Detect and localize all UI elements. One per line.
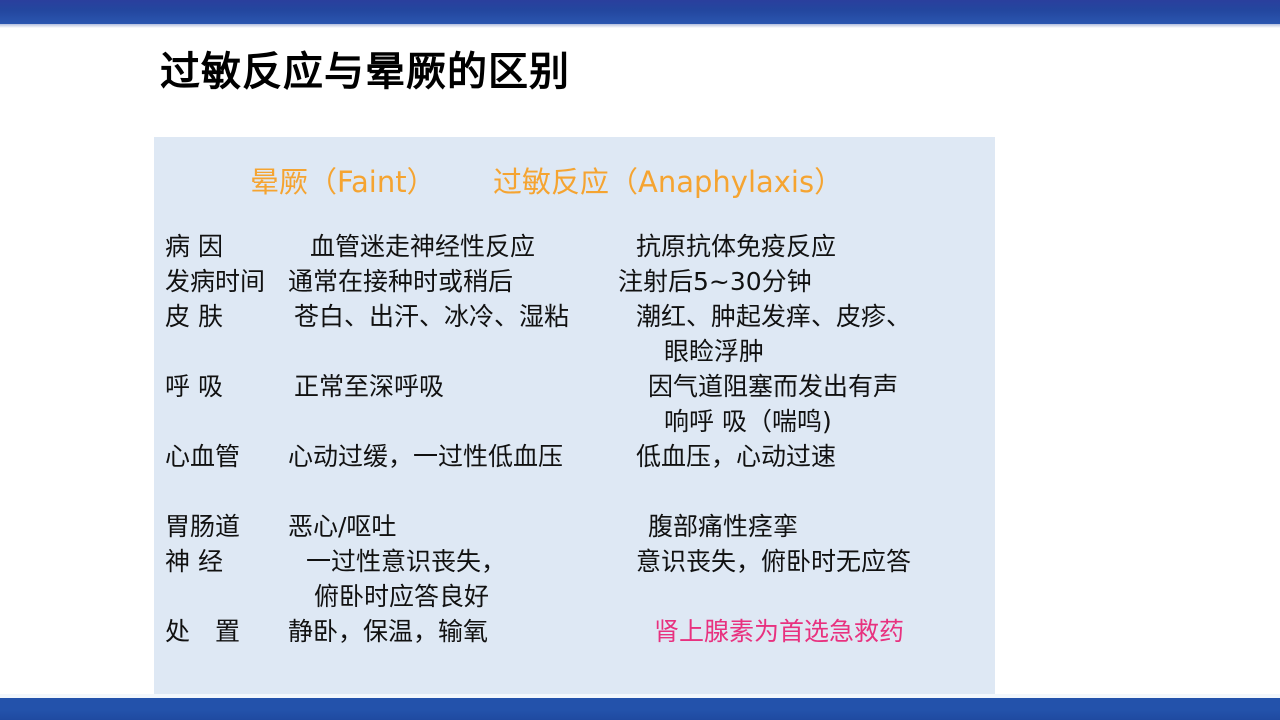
table-row-continuation: 响呼 吸（喘鸣) (154, 404, 995, 439)
row-label: 胃肠道 (165, 509, 240, 544)
row-faint-value: 血管迷走神经性反应 (310, 229, 535, 264)
row-label: 处 置 (165, 614, 240, 649)
row-faint-value: 静卧，保温，输氧 (288, 614, 488, 649)
comparison-panel: 晕厥（Faint） 过敏反应（Anaphylaxis） 病 因 血管迷走神经性反… (154, 137, 995, 695)
slide-canvas: 过敏反应与晕厥的区别 晕厥（Faint） 过敏反应（Anaphylaxis） 病… (0, 0, 1280, 720)
table-row: 呼 吸 正常至深呼吸 因气道阻塞而发出有声 (154, 369, 995, 404)
row-anaphylaxis-value-highlight: 肾上腺素为首选急救药 (654, 614, 904, 649)
row-anaphylaxis-value: 潮红、肿起发痒、皮疹、 (636, 299, 911, 334)
top-band-shadow (0, 24, 1280, 28)
row-anaphylaxis-value-continued: 眼睑浮肿 (664, 334, 764, 369)
table-row: 心血管 心动过缓，一过性低血压 低血压，心动过速 (154, 439, 995, 474)
row-faint-value: 苍白、出汗、冰冷、湿粘 (294, 299, 569, 334)
row-label: 发病时间 (165, 264, 265, 299)
row-faint-value: 恶心/呕吐 (288, 509, 396, 544)
table-row: 发病时间 通常在接种时或稍后 注射后5~30分钟 (154, 264, 995, 299)
row-label: 呼 吸 (165, 369, 223, 404)
page-title: 过敏反应与晕厥的区别 (160, 48, 570, 96)
table-row: 皮 肤 苍白、出汗、冰冷、湿粘 潮红、肿起发痒、皮疹、 (154, 299, 995, 334)
column-header-faint: 晕厥（Faint） (250, 159, 436, 201)
row-label: 皮 肤 (165, 299, 223, 334)
row-label: 病 因 (165, 229, 223, 264)
row-anaphylaxis-value: 注射后5~30分钟 (618, 264, 812, 299)
row-faint-value: 心动过缓，一过性低血压 (288, 439, 563, 474)
row-anaphylaxis-value-continued: 响呼 吸（喘鸣) (664, 404, 832, 439)
top-decorative-band (0, 0, 1280, 24)
table-row-continuation: 俯卧时应答良好 (154, 579, 995, 614)
row-faint-value: 通常在接种时或稍后 (288, 264, 513, 299)
row-anaphylaxis-value: 腹部痛性痉挛 (648, 509, 798, 544)
row-label: 神 经 (165, 544, 223, 579)
bottom-decorative-band (0, 698, 1280, 720)
table-spacer (154, 474, 995, 509)
table-row-continuation: 眼睑浮肿 (154, 334, 995, 369)
comparison-header-row: 晕厥（Faint） 过敏反应（Anaphylaxis） (154, 159, 995, 209)
table-row: 神 经 一过性意识丧失， 意识丧失，俯卧时无应答 (154, 544, 995, 579)
row-anaphylaxis-value: 抗原抗体免疫反应 (636, 229, 836, 264)
row-faint-value: 一过性意识丧失， (306, 544, 506, 579)
comparison-table: 病 因 血管迷走神经性反应 抗原抗体免疫反应 发病时间 通常在接种时或稍后 注射… (154, 229, 995, 649)
row-anaphylaxis-value: 因气道阻塞而发出有声 (648, 369, 898, 404)
table-row: 处 置 静卧，保温，输氧 肾上腺素为首选急救药 (154, 614, 995, 649)
table-row: 胃肠道 恶心/呕吐 腹部痛性痉挛 (154, 509, 995, 544)
row-anaphylaxis-value: 低血压，心动过速 (636, 439, 836, 474)
row-label: 心血管 (165, 439, 240, 474)
row-faint-value: 正常至深呼吸 (294, 369, 444, 404)
column-header-anaphylaxis: 过敏反应（Anaphylaxis） (493, 159, 843, 201)
table-row: 病 因 血管迷走神经性反应 抗原抗体免疫反应 (154, 229, 995, 264)
row-anaphylaxis-value: 意识丧失，俯卧时无应答 (636, 544, 911, 579)
row-faint-value-continued: 俯卧时应答良好 (314, 579, 489, 614)
